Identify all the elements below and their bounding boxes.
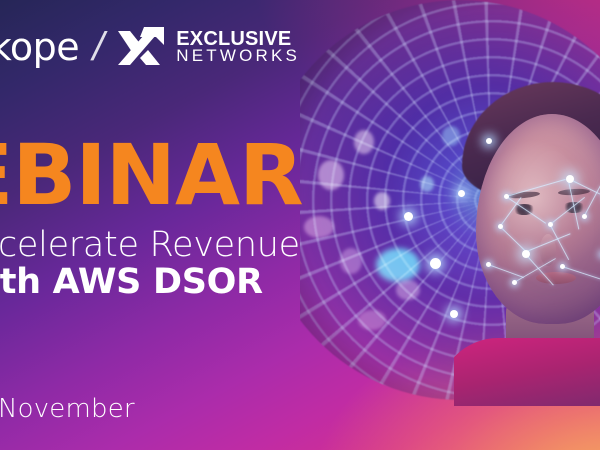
bokeh-particle [304, 216, 334, 238]
biometric-face-artwork [300, 0, 600, 450]
lips [536, 272, 576, 284]
light-particle [404, 212, 413, 221]
bokeh-particle [354, 130, 374, 154]
shoulder [454, 338, 600, 406]
bokeh-particle [396, 280, 420, 300]
webinar-banner: tskope / EXCLUSIVE NETWORKS EBINAR Accel… [0, 0, 600, 450]
light-particle [486, 138, 492, 144]
bokeh-particle [420, 176, 434, 192]
x-arrow-icon [116, 25, 168, 69]
eye-left [512, 204, 536, 215]
logo-lockup: tskope / EXCLUSIVE NETWORKS [0, 24, 300, 70]
cyan-accent-blob [376, 248, 420, 282]
light-particle [430, 258, 441, 269]
exclusive-networks-wordmark: EXCLUSIVE NETWORKS [176, 30, 300, 64]
exn-line-networks: NETWORKS [176, 48, 300, 64]
headline-webinar: EBINAR [0, 133, 303, 217]
event-date: 13 November [0, 394, 135, 424]
bokeh-particle [318, 160, 344, 190]
bokeh-particle [358, 310, 386, 330]
bokeh-particle [374, 192, 390, 210]
light-particle [458, 190, 465, 197]
nose [540, 234, 556, 266]
logo-divider-slash: / [88, 25, 109, 70]
subtitle-line-1: Accelerate Revenue [0, 225, 300, 265]
face-portrait [454, 76, 600, 406]
eye-right [562, 202, 586, 213]
netskope-logo: tskope [0, 28, 79, 66]
bokeh-particle [340, 248, 362, 274]
light-particle [450, 310, 458, 318]
subtitle-line-2: with AWS DSOR [0, 262, 263, 302]
exclusive-networks-logo: EXCLUSIVE NETWORKS [116, 25, 300, 69]
